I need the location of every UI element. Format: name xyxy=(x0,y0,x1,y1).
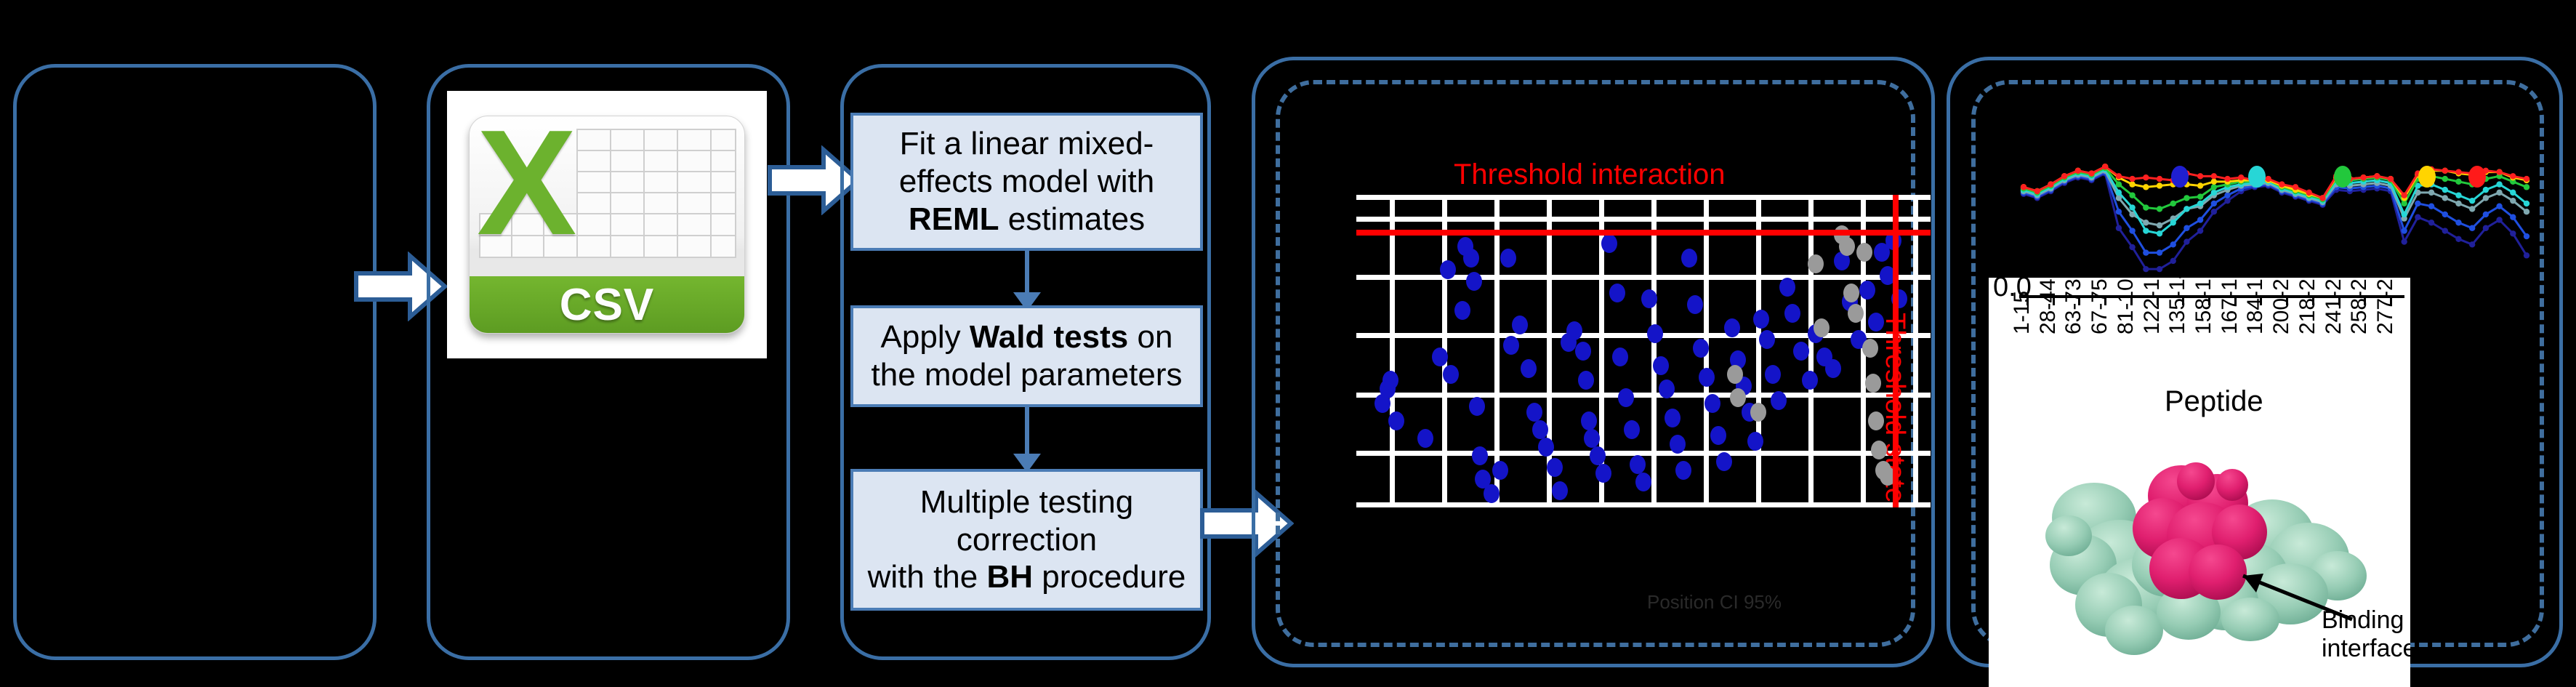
peptide-series-marker xyxy=(2170,241,2176,247)
scatter-plot-grid: Position CI 95% xyxy=(1356,195,1931,507)
scatter-point xyxy=(1417,429,1433,448)
peptide-series-marker xyxy=(2265,176,2271,182)
scatter-point xyxy=(1675,461,1691,480)
csv-file-card: X CSV xyxy=(447,91,767,358)
scatter-point xyxy=(1538,438,1554,457)
step-box-model-fit[interactable]: Fit a linear mixed-effects model withREM… xyxy=(850,113,1203,251)
x-axis-tick-label: 200-214 xyxy=(2269,278,2294,334)
connector-2 xyxy=(1025,407,1029,458)
x-axis-tick-label: 167-180 xyxy=(2218,278,2242,334)
scatter-point xyxy=(1814,318,1830,337)
peptide-series-marker xyxy=(2143,266,2149,272)
scatter-point xyxy=(1871,441,1887,459)
peptide-series-marker xyxy=(2524,201,2529,206)
peptide-series-marker xyxy=(2224,176,2230,182)
peptide-series-marker xyxy=(2428,190,2434,196)
scatter-point xyxy=(1839,237,1855,256)
peptide-series-marker xyxy=(2469,198,2475,204)
scatter-point xyxy=(1532,420,1548,439)
scatter-point xyxy=(1463,249,1479,268)
excel-x-letter: X xyxy=(477,116,576,257)
peptide-series-marker xyxy=(2455,169,2461,174)
x-axis-tick-label: 1-15 xyxy=(2010,291,2034,334)
scatter-point xyxy=(1759,330,1775,349)
peptide-series-marker xyxy=(2524,184,2529,190)
step-box-multiple-testing[interactable]: Multiple testingcorrectionwith the BH pr… xyxy=(850,469,1203,611)
peptide-series-marker xyxy=(2021,184,2026,190)
peptide-series-marker xyxy=(2129,204,2135,210)
threshold-interaction-label: Threshold interaction xyxy=(1454,158,1726,191)
scatter-point xyxy=(1771,391,1787,410)
peptide-series-marker xyxy=(2469,225,2475,231)
peptide-series-marker xyxy=(2129,181,2135,187)
scatter-point xyxy=(1382,371,1398,390)
peptide-series-marker xyxy=(2129,176,2135,182)
structure-card: 0.0 1-1528-4463-7367-7581-101122-129135-… xyxy=(1989,278,2410,687)
binding-interface-line1: Binding xyxy=(2322,606,2404,634)
peptide-series-marker xyxy=(2455,220,2461,225)
scatter-point xyxy=(1670,435,1686,454)
scatter-point xyxy=(1503,336,1519,355)
x-axis-tick-label: 184-199 xyxy=(2243,278,2268,334)
scatter-watermark-text: Position CI 95% xyxy=(1647,591,1782,614)
binding-interface-line2: interface xyxy=(2322,635,2410,662)
scatter-point xyxy=(1784,304,1800,323)
x-axis-tick-label: 241-257 xyxy=(2322,278,2346,334)
csv-label-band: CSV xyxy=(470,276,744,333)
peptide-series-marker xyxy=(2034,188,2040,194)
peptide-series-marker xyxy=(2469,206,2475,212)
scatter-point xyxy=(1753,310,1769,329)
scatter-point xyxy=(1856,243,1872,262)
peptide-series-marker xyxy=(2116,173,2122,179)
peptide-series-marker xyxy=(2442,176,2448,182)
peptide-series-marker xyxy=(2170,258,2176,264)
peptide-series-marker xyxy=(2211,190,2217,196)
peptide-series-marker xyxy=(2524,233,2529,239)
step-box-wald-tests[interactable]: Apply Wald tests onthe model parameters xyxy=(850,305,1203,407)
scatter-point xyxy=(1653,356,1669,375)
scatter-point xyxy=(1512,316,1528,334)
peptide-series-marker xyxy=(2075,168,2081,174)
step-label-multiple-testing: Multiple testingcorrectionwith the BH pr… xyxy=(868,483,1186,597)
scatter-point xyxy=(1443,365,1459,384)
x-axis-tick-label: 63-73 xyxy=(2061,278,2086,334)
scatter-point xyxy=(1612,347,1628,366)
scatter-point xyxy=(1575,342,1591,361)
peptide-series-marker xyxy=(2102,164,2108,169)
peptide-series-marker xyxy=(2211,179,2217,185)
peptide-series-marker xyxy=(2483,187,2489,193)
peptide-series-marker xyxy=(2374,173,2380,179)
peptide-series-marker xyxy=(2129,192,2135,198)
x-axis-tick-label: 218-237 xyxy=(2295,278,2320,334)
scatter-point xyxy=(1581,411,1597,430)
peptide-series-marker xyxy=(2279,181,2285,187)
peptide-series-marker xyxy=(2469,241,2475,247)
x-axis-title: Peptide xyxy=(2165,385,2263,418)
x-axis-tick-label: 122-129 xyxy=(2140,278,2165,334)
legend-dot-4 xyxy=(2418,166,2436,188)
peptide-series-marker xyxy=(2401,228,2407,233)
scatter-point xyxy=(1750,403,1766,422)
peptide-series-marker xyxy=(2157,249,2162,255)
peptide-series-marker xyxy=(2496,181,2502,187)
peptide-series-marker xyxy=(2319,195,2325,201)
peptide-series-marker xyxy=(2224,198,2230,204)
peptide-series-marker xyxy=(2183,225,2189,231)
peptide-series-marker xyxy=(2455,236,2461,242)
peptide-series-marker xyxy=(2455,201,2461,206)
peptide-series-marker xyxy=(2496,169,2502,174)
peptide-series-marker xyxy=(2157,176,2162,182)
scatter-point xyxy=(1624,420,1640,439)
legend-dot-1 xyxy=(2171,166,2189,188)
scatter-point xyxy=(1825,359,1841,378)
peptide-series-marker xyxy=(2143,174,2149,180)
peptide-series-marker xyxy=(2211,173,2217,179)
threshold-interaction-line xyxy=(1356,230,1931,236)
scatter-point xyxy=(1641,289,1657,308)
scatter-point xyxy=(1469,397,1485,416)
legend-dot-3 xyxy=(2334,166,2351,188)
peptide-series-marker xyxy=(2143,249,2149,255)
scatter-point xyxy=(1716,452,1732,471)
csv-label-text: CSV xyxy=(560,279,654,331)
peptide-series-marker xyxy=(2197,228,2203,233)
x-axis-tick-label: 135-144 xyxy=(2165,278,2190,334)
peptide-series-marker xyxy=(2510,214,2516,220)
peptide-series-marker xyxy=(2143,204,2149,210)
x-axis-tick-label: 277-284 xyxy=(2373,278,2398,334)
x-axis-tick-label: 258-266 xyxy=(2347,278,2372,334)
peptide-series-marker xyxy=(2197,217,2203,222)
scatter-point-group xyxy=(1356,195,1931,507)
x-axis-tick-group: 1-1528-4463-7367-7581-101122-129135-1441… xyxy=(1989,278,2410,401)
scatter-point xyxy=(1747,432,1763,451)
peptide-series-marker xyxy=(2170,220,2176,225)
peptide-series-marker xyxy=(2428,203,2434,209)
scatter-point xyxy=(1687,295,1703,314)
scatter-point xyxy=(1699,368,1715,387)
csv-file-icon: X CSV xyxy=(469,116,745,334)
x-axis-tick-label: 67-75 xyxy=(2088,278,2112,334)
peptide-series-marker xyxy=(2116,225,2122,231)
peptide-series-marker xyxy=(2197,173,2203,179)
scatter-point xyxy=(1388,411,1404,430)
x-axis-tick-label: 28-44 xyxy=(2036,278,2061,334)
scatter-point xyxy=(1484,484,1500,503)
peptide-series-marker xyxy=(2238,174,2244,180)
scatter-point xyxy=(1440,260,1456,279)
x-axis-tick-label: 81-101 xyxy=(2114,278,2138,334)
scatter-point xyxy=(1609,284,1625,302)
scatter-point xyxy=(1590,446,1606,465)
scatter-point xyxy=(1647,324,1663,343)
legend-dot-5 xyxy=(2468,166,2486,188)
peptide-series-marker xyxy=(2211,201,2217,206)
binding-interface-annotation: Binding interface xyxy=(2322,606,2410,663)
peptide-series-marker xyxy=(2496,203,2502,209)
scatter-point xyxy=(1843,284,1859,302)
step-label-wald-tests: Apply Wald tests onthe model parameters xyxy=(872,318,1183,394)
scatter-point xyxy=(1566,321,1582,340)
peptide-series-marker xyxy=(2116,190,2122,196)
scatter-point xyxy=(1710,426,1726,445)
scatter-point xyxy=(1432,347,1448,366)
peptide-series-marker xyxy=(2293,184,2298,190)
peptide-series-marker xyxy=(2442,187,2448,193)
peptide-series-marker xyxy=(2211,209,2217,214)
scatter-point xyxy=(1547,458,1563,477)
peptide-series-marker xyxy=(2360,174,2366,180)
peptide-series-marker xyxy=(2401,238,2407,244)
scatter-point xyxy=(1500,249,1516,268)
scatter-point xyxy=(1659,379,1675,398)
peptide-series-marker xyxy=(2197,201,2203,206)
scatter-point xyxy=(1665,409,1681,427)
peptide-series-marker xyxy=(2483,195,2489,201)
scatter-point xyxy=(1848,304,1864,323)
scatter-point xyxy=(1466,272,1482,291)
peptide-series-marker xyxy=(2442,168,2448,174)
peptide-series-marker xyxy=(2496,190,2502,196)
peptide-series-marker xyxy=(2401,192,2407,198)
scatter-point xyxy=(1601,234,1617,253)
connector-1 xyxy=(1025,251,1029,296)
legend-dot-2 xyxy=(2248,166,2266,188)
peptide-series-marker xyxy=(2510,230,2516,236)
peptide-series-marker xyxy=(2388,176,2394,182)
peptide-series-marker xyxy=(2129,228,2135,233)
peptide-series-marker xyxy=(2428,220,2434,225)
scatter-point xyxy=(1521,359,1537,378)
peptide-series-marker xyxy=(2510,190,2516,196)
peptide-series-marker xyxy=(2197,193,2203,199)
threshold-state-line xyxy=(1893,195,1899,507)
peptide-series-marker xyxy=(2510,173,2516,179)
peptide-series-marker xyxy=(2496,217,2502,222)
peptide-series-marker xyxy=(2442,195,2448,201)
peptide-series-marker xyxy=(2061,173,2067,179)
peptide-series-marker xyxy=(2048,181,2053,187)
peptide-series-marker xyxy=(2170,201,2176,206)
peptide-series-marker xyxy=(2401,201,2407,206)
peptide-series-marker xyxy=(2143,228,2149,233)
scatter-point xyxy=(1526,403,1542,422)
peptide-series-marker xyxy=(2157,206,2162,212)
scatter-point xyxy=(1595,464,1611,483)
peptide-series-marker xyxy=(2116,209,2122,214)
peptide-series-marker xyxy=(2183,195,2189,201)
peptide-series-marker xyxy=(2157,222,2162,228)
input-data-panel xyxy=(13,64,377,660)
peptide-series-marker xyxy=(2415,201,2420,206)
peptide-series-marker xyxy=(2143,220,2149,225)
scatter-point xyxy=(1681,249,1697,268)
peptide-series-marker xyxy=(2157,266,2162,272)
scatter-point xyxy=(1765,365,1781,384)
x-axis-tick-label: 158-166 xyxy=(2191,278,2216,334)
scatter-point xyxy=(1492,461,1508,480)
scatter-point xyxy=(1808,254,1824,273)
peptide-series-marker xyxy=(2088,170,2094,176)
peptide-series-marker xyxy=(2224,192,2230,198)
peptide-series-marker xyxy=(2483,212,2489,217)
workflow-diagram: X CSV Fit a linear mixed-effects model w… xyxy=(0,0,2576,687)
peptide-series-marker xyxy=(2116,181,2122,187)
scatter-point xyxy=(1584,429,1600,448)
scatter-point xyxy=(1859,281,1875,300)
scatter-point xyxy=(1618,388,1634,407)
peptide-series-marker xyxy=(2143,184,2149,190)
scatter-point xyxy=(1793,342,1809,361)
peptide-series-marker xyxy=(2524,209,2529,214)
scatter-point xyxy=(1868,313,1884,332)
peptide-series-marker xyxy=(2183,238,2189,244)
peptide-series-marker xyxy=(2157,230,2162,236)
peptide-series-marker xyxy=(2442,228,2448,233)
scatter-point xyxy=(1472,446,1488,465)
peptide-series-marker xyxy=(2455,192,2461,198)
peptide-series-marker xyxy=(2129,244,2135,250)
step-label-model-fit: Fit a linear mixed-effects model withREM… xyxy=(899,125,1154,238)
peptide-series-marker xyxy=(2524,252,2529,258)
peptide-series-marker xyxy=(2442,212,2448,217)
peptide-series-marker xyxy=(2510,198,2516,204)
peptide-series-marker xyxy=(2197,182,2203,188)
peptide-series-marker xyxy=(2524,176,2529,182)
scatter-point xyxy=(1724,318,1740,337)
peptide-line-chart xyxy=(2006,145,2544,298)
peptide-series-marker xyxy=(2183,206,2189,212)
scatter-point xyxy=(1704,394,1720,413)
peptide-series-marker xyxy=(2483,225,2489,231)
peptide-series-marker xyxy=(2401,212,2407,217)
scatter-point xyxy=(1578,371,1594,390)
scatter-point xyxy=(1552,481,1568,500)
peptide-series-marker xyxy=(2211,184,2217,190)
scatter-point xyxy=(1868,411,1884,430)
scatter-point xyxy=(1862,339,1878,358)
scatter-point xyxy=(1693,339,1709,358)
scatter-point xyxy=(1630,455,1646,474)
scatter-point xyxy=(1865,374,1881,393)
peptide-series-marker xyxy=(2306,190,2312,196)
scatter-point xyxy=(1635,473,1651,491)
scatter-point xyxy=(1454,301,1470,320)
scatter-point xyxy=(1802,371,1818,390)
scatter-point xyxy=(1779,278,1795,297)
peptide-series-marker xyxy=(2415,214,2420,220)
peptide-series-marker xyxy=(2157,182,2162,188)
peptide-series-marker xyxy=(2455,179,2461,185)
